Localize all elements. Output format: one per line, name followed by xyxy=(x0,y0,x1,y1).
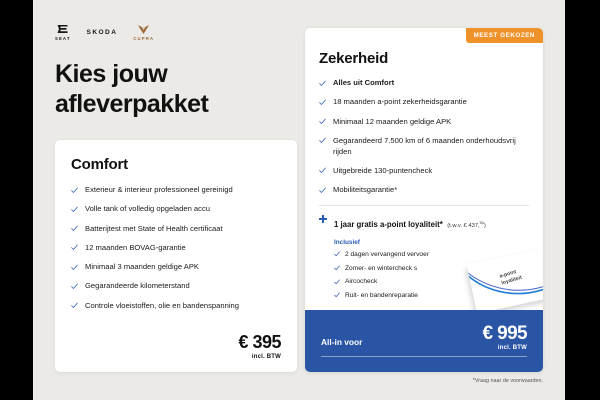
list-item: Gegarandeerd 7.500 km of 6 maanden onder… xyxy=(319,136,529,158)
list-item: 12 maanden BOVAG-garantie xyxy=(71,243,281,254)
list-item-label: Exterieur & interieur professioneel gere… xyxy=(85,185,233,196)
page-title: Kies jouw afleverpakket xyxy=(55,60,285,119)
letterbox-bar-left xyxy=(0,0,33,400)
loyalty-addon-row: 1 jaar gratis a-point loyaliteit* (t.w.v… xyxy=(319,214,529,232)
check-icon xyxy=(71,225,78,232)
check-icon xyxy=(319,137,326,144)
list-item-label: Batterijtest met State of Health certifi… xyxy=(85,224,223,235)
cupra-mark-icon xyxy=(137,24,150,35)
comfort-price-block: € 395 incl. BTW xyxy=(238,333,281,360)
check-icon xyxy=(71,302,78,309)
disclaimer-text: *Vraag naar de voorwaarden. xyxy=(473,378,543,384)
list-item: Batterijtest met State of Health certifi… xyxy=(71,224,281,235)
plus-icon xyxy=(319,215,327,223)
check-icon xyxy=(71,283,78,290)
seat-wordmark: SEAT xyxy=(55,37,71,41)
list-item: 18 maanden a-point zekerheidsgarantie xyxy=(319,97,529,108)
skoda-wordmark: SKODA xyxy=(87,29,118,36)
check-icon xyxy=(319,80,326,87)
zekerheid-card-title: Zekerheid xyxy=(319,50,529,67)
zekerheid-price: € 995 xyxy=(482,324,527,343)
list-item: Minimaal 12 maanden geldige APK xyxy=(319,117,529,128)
list-item-label: Ruit- en bandenreparatie xyxy=(345,292,418,301)
zekerheid-feature-list: Alles uit Comfort 18 maanden a-point zek… xyxy=(319,78,529,196)
list-item: Alles uit Comfort xyxy=(319,78,529,89)
seat-mark-icon xyxy=(56,24,69,35)
package-selector-page: SEAT SKODA CUPRA Kies jouw afleverpakket… xyxy=(33,0,565,400)
list-item-label: Zomer- en wintercheck s xyxy=(345,265,417,274)
check-icon xyxy=(71,206,78,213)
check-icon xyxy=(319,187,326,194)
list-item: Exterieur & interieur professioneel gere… xyxy=(71,185,281,196)
loyalty-title: 1 jaar gratis a-point loyaliteit* xyxy=(334,220,443,229)
zekerheid-price-note: incl. BTW xyxy=(482,345,527,351)
check-icon xyxy=(319,167,326,174)
letterbox-bar-right xyxy=(565,0,600,400)
footer-divider xyxy=(321,356,527,357)
check-icon xyxy=(334,265,340,271)
check-icon xyxy=(334,292,340,298)
list-item-label: Volle tank of volledig opgeladen accu xyxy=(85,204,210,215)
list-item: Uitgebreide 130-puntencheck xyxy=(319,166,529,177)
list-item-label: Alles uit Comfort xyxy=(333,78,394,89)
list-item-label: Controle vloeistoffen, olie en bandenspa… xyxy=(85,301,239,312)
list-item: Minimaal 3 maanden geldige APK xyxy=(71,262,281,273)
list-item: Controle vloeistoffen, olie en bandenspa… xyxy=(71,301,281,312)
skoda-logo: SKODA xyxy=(87,29,118,36)
list-item: Mobiliteitsgarantie* xyxy=(319,185,529,196)
cupra-wordmark: CUPRA xyxy=(133,37,154,41)
comfort-package-card[interactable]: Comfort Exterieur & interieur profession… xyxy=(55,140,297,372)
check-icon xyxy=(319,99,326,106)
list-item: Gegarandeerde kilometerstand xyxy=(71,281,281,292)
list-item-label: Aircocheck xyxy=(345,278,377,287)
comfort-card-title: Comfort xyxy=(71,156,281,173)
list-item-label: Gegarandeerd 7.500 km of 6 maanden onder… xyxy=(333,136,529,158)
status-badge: MEEST GEKOZEN xyxy=(466,28,543,43)
check-icon xyxy=(71,264,78,271)
list-item-label: 12 maanden BOVAG-garantie xyxy=(85,243,186,254)
loyalty-value-note: (t.w.v. € 437,50) xyxy=(447,223,486,229)
seat-logo: SEAT xyxy=(55,24,71,41)
included-label: Inclusief xyxy=(334,239,529,246)
list-item-label: 18 maanden a-point zekerheidsgarantie xyxy=(333,97,467,108)
list-item-label: Uitgebreide 130-puntencheck xyxy=(333,166,432,177)
footer-price-block: € 995 incl. BTW xyxy=(482,324,527,351)
list-item: Volle tank of volledig opgeladen accu xyxy=(71,204,281,215)
comfort-feature-list: Exterieur & interieur professioneel gere… xyxy=(71,185,281,311)
comfort-price-note: incl. BTW xyxy=(238,354,281,360)
check-icon xyxy=(71,244,78,251)
check-icon xyxy=(319,118,326,125)
zekerheid-price-footer[interactable]: All-in voor € 995 incl. BTW xyxy=(305,310,543,372)
comfort-price: € 395 xyxy=(238,333,281,351)
screenshot-stage: SEAT SKODA CUPRA Kies jouw afleverpakket… xyxy=(0,0,600,400)
check-icon xyxy=(71,187,78,194)
list-item-label: Minimaal 3 maanden geldige APK xyxy=(85,262,199,273)
list-item-label: 2 dagen vervangend vervoer xyxy=(345,251,429,260)
brand-logo-row: SEAT SKODA CUPRA xyxy=(55,24,154,41)
list-item-label: Minimaal 12 maanden geldige APK xyxy=(333,117,451,128)
check-icon xyxy=(334,251,340,257)
list-item-label: Mobiliteitsgarantie* xyxy=(333,185,397,196)
section-divider xyxy=(319,205,529,206)
cupra-logo: CUPRA xyxy=(133,24,154,41)
footer-price-label: All-in voor xyxy=(321,337,362,351)
list-item-label: Gegarandeerde kilometerstand xyxy=(85,281,190,292)
zekerheid-package-card[interactable]: MEEST GEKOZEN Zekerheid Alles uit Comfor… xyxy=(305,28,543,372)
check-icon xyxy=(334,279,340,285)
footer-price-row: All-in voor € 995 incl. BTW xyxy=(321,324,527,351)
